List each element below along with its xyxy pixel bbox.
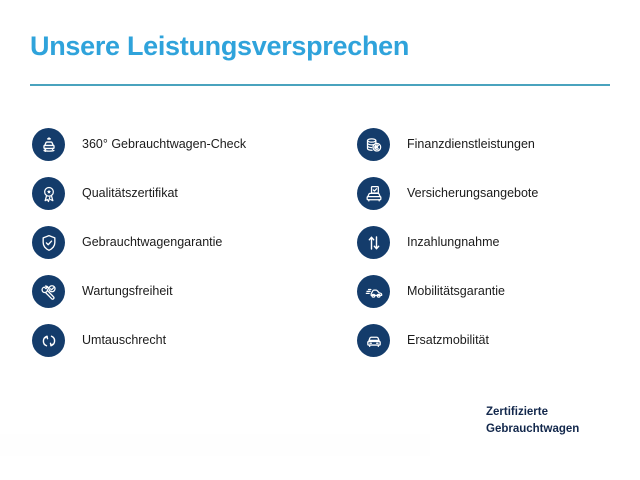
services-column-right: Finanzdienstleistungen Versicherungsange…: [320, 120, 640, 365]
list-item-label: Umtauschrecht: [82, 333, 166, 348]
list-item[interactable]: 360° Gebrauchtwagen-Check: [32, 120, 320, 169]
services-column-left: 360° Gebrauchtwagen-Check Qualitätszerti…: [0, 120, 320, 365]
car-document-icon: [357, 177, 390, 210]
list-item-label: Versicherungsangebote: [407, 186, 538, 201]
page-title: Unsere Leistungsversprechen: [30, 31, 409, 62]
footer-line-1: Zertifizierte: [486, 404, 579, 421]
title-divider: [30, 84, 610, 86]
slide-canvas: Unsere Leistungsversprechen 360° Gebrauc…: [0, 0, 640, 480]
exchange-arrows-icon: [32, 324, 65, 357]
car-front-icon: [357, 324, 390, 357]
list-item[interactable]: Ersatzmobilität: [357, 316, 640, 365]
list-item[interactable]: Qualitätszertifikat: [32, 169, 320, 218]
list-item-label: Gebrauchtwagengarantie: [82, 235, 222, 250]
coins-euro-icon: [357, 128, 390, 161]
up-down-arrows-icon: [357, 226, 390, 259]
list-item-label: Wartungsfreiheit: [82, 284, 173, 299]
list-item[interactable]: Inzahlungnahme: [357, 218, 640, 267]
list-item-label: Inzahlungnahme: [407, 235, 499, 250]
list-item-label: Qualitätszertifikat: [82, 186, 178, 201]
list-item[interactable]: Wartungsfreiheit: [32, 267, 320, 316]
footer-line-2: Gebrauchtwagen: [486, 421, 579, 438]
quality-rosette-icon: [32, 177, 65, 210]
background-watermark: [0, 434, 430, 456]
list-item[interactable]: Umtauschrecht: [32, 316, 320, 365]
services-grid: 360° Gebrauchtwagen-Check Qualitätszerti…: [0, 120, 640, 365]
list-item-label: Mobilitätsgarantie: [407, 284, 505, 299]
list-item[interactable]: Versicherungsangebote: [357, 169, 640, 218]
car-360-check-icon: [32, 128, 65, 161]
list-item-label: Ersatzmobilität: [407, 333, 489, 348]
footer-caption: Zertifizierte Gebrauchtwagen: [486, 404, 579, 437]
speeding-car-icon: [357, 275, 390, 308]
list-item-label: 360° Gebrauchtwagen-Check: [82, 137, 246, 152]
list-item-label: Finanzdienstleistungen: [407, 137, 535, 152]
list-item[interactable]: Finanzdienstleistungen: [357, 120, 640, 169]
list-item[interactable]: Gebrauchtwagengarantie: [32, 218, 320, 267]
list-item[interactable]: Mobilitätsgarantie: [357, 267, 640, 316]
wrench-check-icon: [32, 275, 65, 308]
shield-check-icon: [32, 226, 65, 259]
